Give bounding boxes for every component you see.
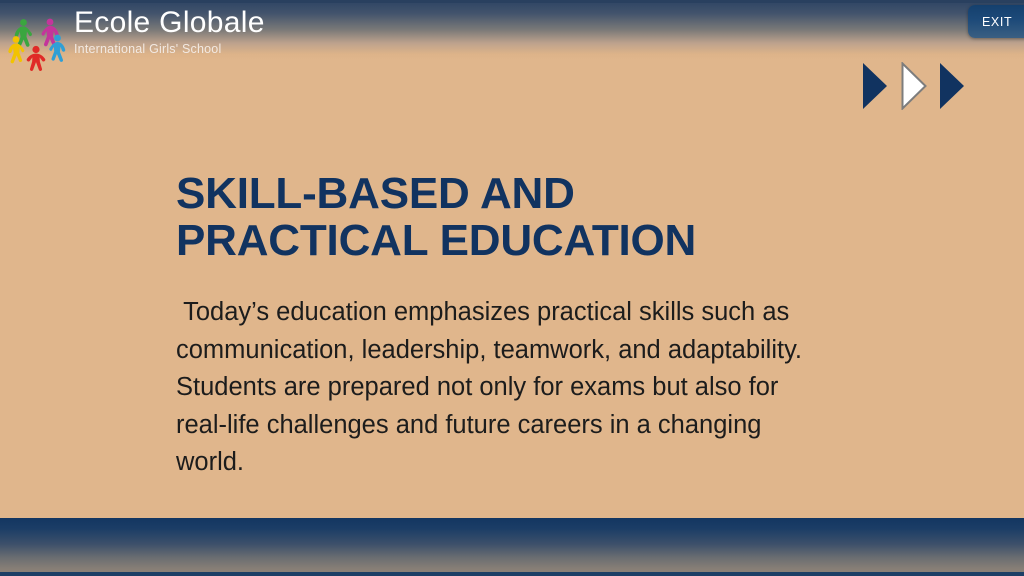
arrow-right-filled-1-icon[interactable]	[862, 62, 888, 110]
brand-name: Ecole Globale	[74, 6, 254, 40]
exit-button-label: EXIT	[982, 15, 1012, 29]
arrow-right-filled-3-icon[interactable]	[939, 62, 965, 110]
brand-tagline: International Girls' School	[74, 41, 254, 57]
bottom-gradient-band	[0, 518, 1024, 576]
arrow-group	[862, 62, 972, 112]
slide-title-line-2: PRACTICAL EDUCATION	[176, 217, 876, 264]
slide-body-paragraph: Today’s education emphasizes practical s…	[176, 294, 831, 482]
top-edge-strip	[0, 0, 1024, 3]
bottom-edge-strip	[0, 572, 1024, 576]
slide-title: SKILL-BASED AND PRACTICAL EDUCATION	[176, 170, 876, 264]
arrow-right-outline-2-icon[interactable]	[901, 62, 927, 110]
people-circle-logo-icon	[6, 9, 68, 71]
exit-button[interactable]: EXIT	[968, 5, 1024, 38]
brand-logo[interactable]: Ecole Globale International Girls' Schoo…	[4, 6, 254, 76]
brand-logo-text: Ecole Globale International Girls' Schoo…	[74, 6, 254, 57]
presentation-slide: Ecole Globale International Girls' Schoo…	[0, 0, 1024, 576]
slide-title-line-1: SKILL-BASED AND	[176, 169, 575, 218]
